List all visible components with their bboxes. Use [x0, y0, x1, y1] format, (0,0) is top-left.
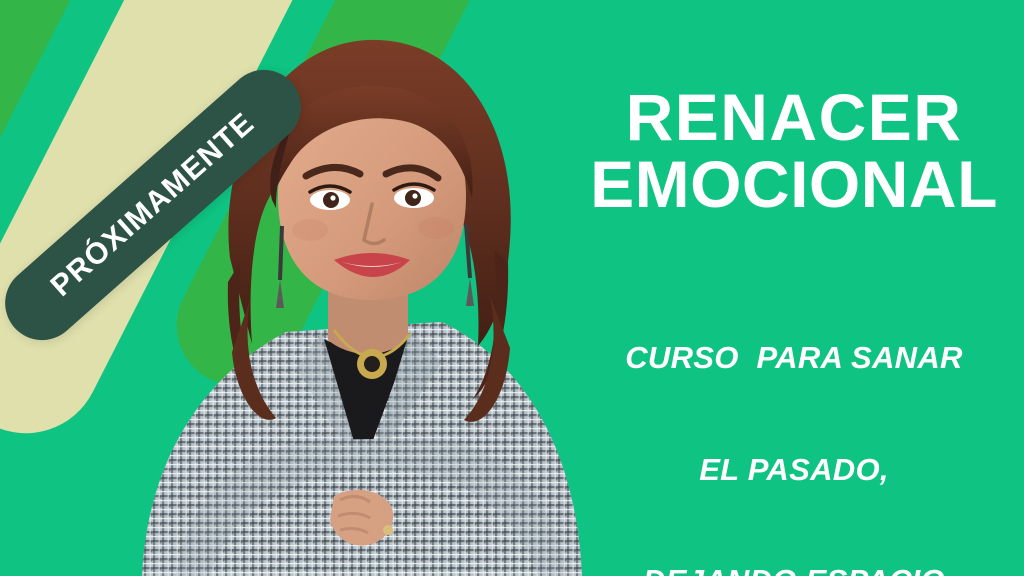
poster-text-column: RENACER EMOCIONAL CURSO PARA SANAR EL PA… [572, 0, 1024, 576]
coming-soon-badge: PRÓXIMAMENTE [0, 55, 316, 356]
headline-line-1: RENACER [626, 80, 963, 154]
subtitle: CURSO PARA SANAR EL PASADO, DEJANDO ESPA… [586, 265, 1002, 576]
stripe-cream [0, 0, 404, 459]
subtitle-line-3: DEJANDO ESPACIO [586, 562, 1002, 576]
subtitle-line-2: EL PASADO, [586, 451, 1002, 488]
stripe-green-2 [156, 0, 553, 406]
promo-poster: PRÓXIMAMENTE RENACER EMOCIONAL CURSO PAR… [0, 0, 1024, 576]
page-title: RENACER EMOCIONAL [586, 84, 1002, 219]
headline-line-2: EMOCIONAL [590, 147, 998, 221]
presenter-portrait [90, 0, 630, 576]
coming-soon-badge-label: PRÓXIMAMENTE [46, 108, 260, 302]
subtitle-line-1: CURSO PARA SANAR [586, 339, 1002, 376]
